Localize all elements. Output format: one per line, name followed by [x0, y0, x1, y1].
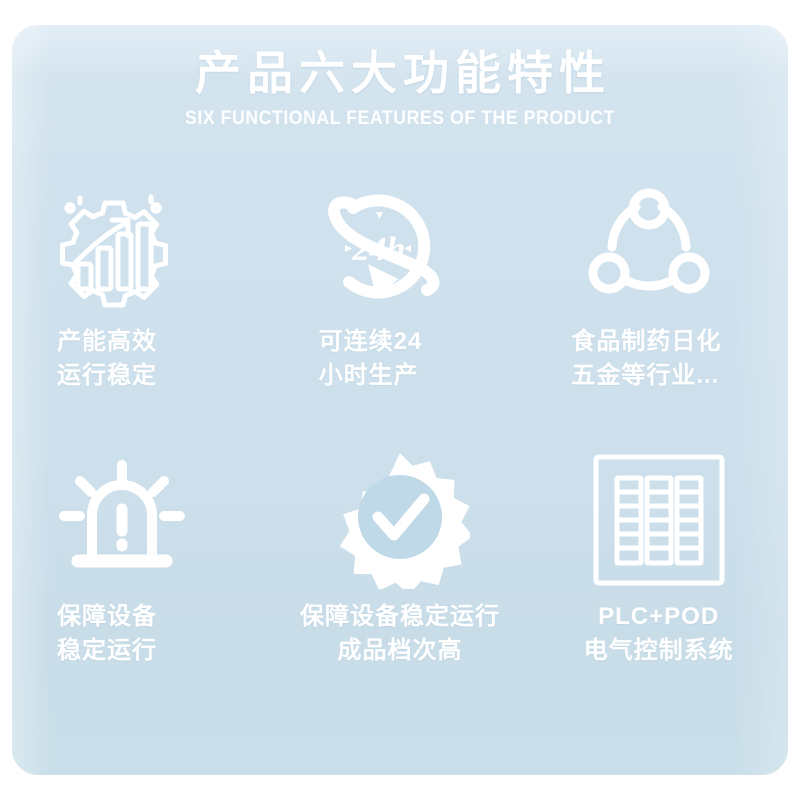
feature-label-line2: 运行稳定 — [57, 359, 271, 393]
page-title: 产品六大功能特性 — [12, 45, 788, 101]
feature-label-line2: 电气控制系统 — [529, 634, 788, 668]
page-subtitle: SIX FUNCTIONAL FEATURES OF THE PRODUCT — [39, 107, 761, 131]
feature-labels: 食品制药日化 五金等行业... — [571, 325, 788, 393]
feature-labels: 产能高效 运行稳定 — [57, 325, 271, 393]
three-node-network-icon — [529, 175, 788, 325]
gear-bar-chart-growth-icon — [12, 175, 271, 325]
feature-labels: 可连续24 小时生产 — [319, 325, 530, 393]
24h-rotation-clock-icon: 24h — [271, 175, 530, 325]
feature-label-line1: 食品制药日化 — [571, 325, 788, 359]
features-grid: 产能高效 运行稳定 24h — [12, 175, 788, 705]
feature-item-plc-pod-control: PLC+POD 电气控制系统 — [529, 440, 788, 705]
feature-label-line2: 稳定运行 — [57, 634, 271, 668]
feature-labels: 保障设备 稳定运行 — [57, 600, 271, 668]
control-panel-cabinet-icon — [529, 440, 788, 600]
feature-item-quality-grade: 保障设备稳定运行 成品档次高 — [271, 440, 530, 705]
feature-label-line1: 保障设备稳定运行 — [271, 600, 530, 634]
feature-label-line1: PLC+POD — [529, 600, 788, 634]
feature-item-continuous-24h: 24h 可连续24 小时生产 — [271, 175, 530, 440]
poster-card: 产品六大功能特性 SIX FUNCTIONAL FEATURES OF THE … — [12, 25, 788, 775]
feature-label-line2: 小时生产 — [319, 359, 530, 393]
feature-item-industries: 食品制药日化 五金等行业... — [529, 175, 788, 440]
alarm-siren-warning-icon — [12, 440, 271, 600]
feature-label-line1: 可连续24 — [319, 325, 530, 359]
feature-label-line2: 五金等行业... — [571, 359, 788, 393]
feature-label-line1: 产能高效 — [57, 325, 271, 359]
feature-labels: 保障设备稳定运行 成品档次高 — [271, 600, 530, 668]
feature-label-line2: 成品档次高 — [271, 634, 530, 668]
badge-check-seal-icon — [271, 440, 530, 600]
feature-label-line1: 保障设备 — [57, 600, 271, 634]
feature-labels: PLC+POD 电气控制系统 — [529, 600, 788, 668]
poster-header: 产品六大功能特性 SIX FUNCTIONAL FEATURES OF THE … — [12, 45, 788, 131]
feature-item-equipment-guarantee: 保障设备 稳定运行 — [12, 440, 271, 705]
svg-text:24h: 24h — [351, 231, 405, 268]
feature-item-capacity-efficiency: 产能高效 运行稳定 — [12, 175, 271, 440]
